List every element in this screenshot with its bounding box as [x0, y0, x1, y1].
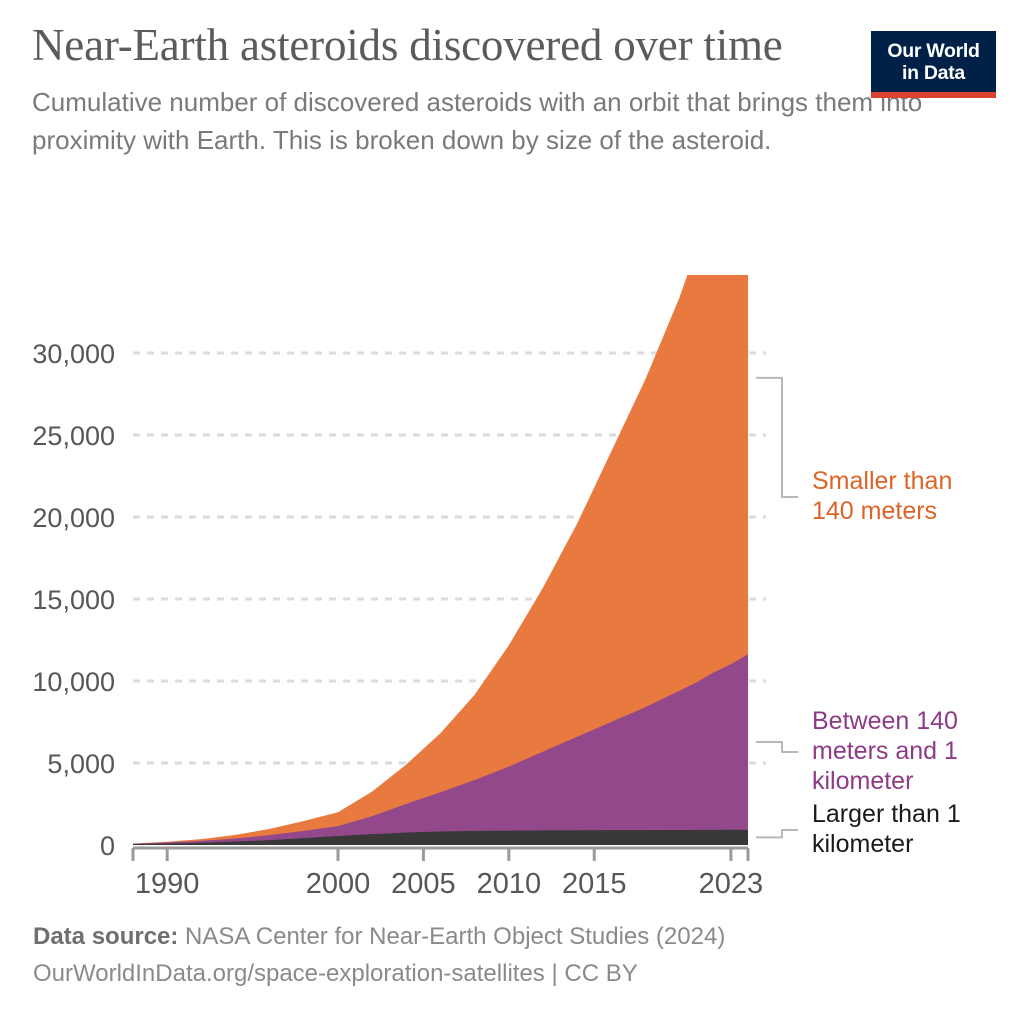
logo-line-2: in Data	[879, 62, 988, 84]
legend-connector-line	[756, 742, 798, 752]
x-axis-tick-label: 2010	[477, 868, 542, 900]
y-tick-labels-group: 05,00010,00015,00020,00025,00030,000	[32, 339, 115, 861]
legend-connector-line	[756, 378, 798, 497]
source-value: NASA Center for Near-Earth Object Studie…	[178, 923, 725, 950]
x-axis-tick-label: 2000	[306, 868, 371, 900]
chart-page: Near-Earth asteroids discovered over tim…	[0, 0, 1024, 1024]
y-axis-tick-label: 0	[100, 831, 115, 861]
our-world-in-data-logo[interactable]: Our World in Data	[871, 31, 996, 98]
legend-item-label[interactable]: Smaller than	[812, 467, 952, 495]
y-axis-tick-label: 20,000	[32, 503, 115, 533]
legend-group[interactable]: Smaller than140 metersBetween 140meters …	[756, 378, 961, 858]
axis-group	[133, 848, 748, 861]
x-axis-tick-label: 2023	[699, 868, 764, 900]
y-axis-tick-label: 10,000	[32, 667, 115, 697]
legend-item-label[interactable]: Larger than 1	[812, 800, 961, 828]
stacked-area-chart[interactable]: 05,00010,00015,00020,00025,00030,000 199…	[0, 275, 1024, 900]
area-series-group[interactable]	[133, 275, 748, 845]
legend-item-label[interactable]: Between 140	[812, 707, 958, 735]
legend-item-label[interactable]: kilometer	[812, 830, 913, 858]
chart-header: Near-Earth asteroids discovered over tim…	[32, 22, 992, 159]
y-axis-tick-label: 15,000	[32, 585, 115, 615]
chart-subtitle: Cumulative number of discovered asteroid…	[32, 83, 982, 159]
legend-item-label[interactable]: meters and 1	[812, 737, 958, 765]
logo-line-1: Our World	[879, 40, 988, 62]
legend-item-label[interactable]: 140 meters	[812, 497, 937, 525]
y-axis-tick-label: 25,000	[32, 421, 115, 451]
x-axis-tick-label: 2015	[562, 868, 627, 900]
footer-source-line: Data source: NASA Center for Near-Earth …	[33, 918, 993, 955]
legend-connector-line	[756, 830, 798, 837]
legend-item-label[interactable]: kilometer	[812, 767, 913, 795]
y-axis-tick-label: 5,000	[47, 749, 115, 779]
page-title: Near-Earth asteroids discovered over tim…	[32, 22, 822, 69]
y-axis-tick-label: 30,000	[32, 339, 115, 369]
x-axis-tick-label: 2005	[391, 868, 456, 900]
x-axis-tick-label: 1990	[135, 868, 200, 900]
chart-footer: Data source: NASA Center for Near-Earth …	[33, 918, 993, 992]
x-tick-labels-group: 199020002005201020152023	[135, 868, 763, 900]
source-label: Data source:	[33, 923, 178, 950]
footer-link-line[interactable]: OurWorldInData.org/space-exploration-sat…	[33, 955, 993, 992]
chart-container: 05,00010,00015,00020,00025,00030,000 199…	[0, 275, 1024, 900]
